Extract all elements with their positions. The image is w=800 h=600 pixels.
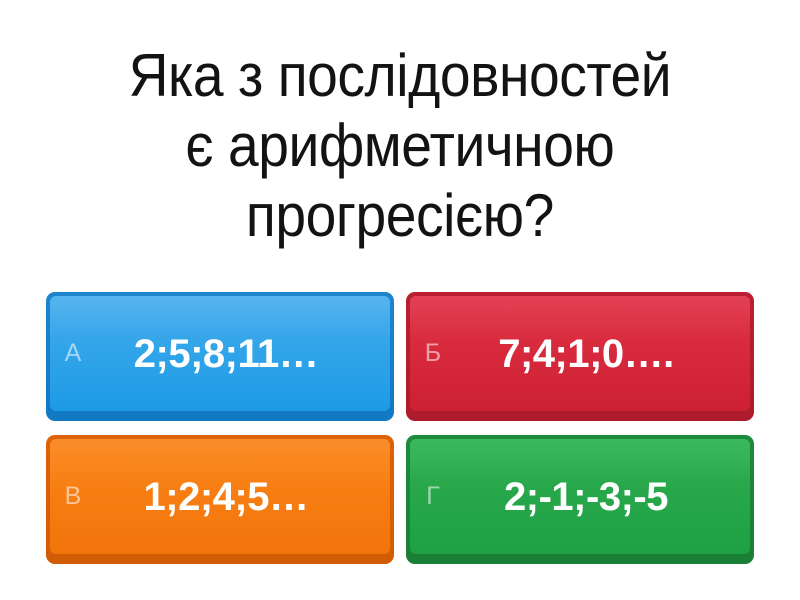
answer-option-g-letter: Г: [410, 484, 456, 509]
answer-option-g-face: Г 2;-1;-3;-5: [410, 439, 750, 554]
answer-option-v[interactable]: В 1;2;4;5…: [46, 435, 394, 564]
quiz-slide: Яка з послідовностей є арифметичною прог…: [0, 0, 800, 600]
answer-option-a-text: 2;5;8;11…: [96, 334, 390, 374]
answer-option-b-text: 7;4;1;0….: [456, 334, 750, 374]
answer-option-a-letter: А: [50, 341, 96, 366]
answer-option-a[interactable]: А 2;5;8;11…: [46, 292, 394, 421]
question-area: Яка з послідовностей є арифметичною прог…: [0, 0, 800, 282]
answer-option-v-text: 1;2;4;5…: [96, 477, 390, 517]
answer-option-v-face: В 1;2;4;5…: [50, 439, 390, 554]
answer-option-b-letter: Б: [410, 341, 456, 366]
question-text: Яка з послідовностей є арифметичною прог…: [129, 41, 672, 252]
answer-option-g[interactable]: Г 2;-1;-3;-5: [406, 435, 754, 564]
answer-options-grid: А 2;5;8;11… Б 7;4;1;0…. В 1;2;4;5… Г 2;-…: [46, 292, 754, 564]
answer-option-b-face: Б 7;4;1;0….: [410, 296, 750, 411]
answer-option-a-face: А 2;5;8;11…: [50, 296, 390, 411]
answer-option-b[interactable]: Б 7;4;1;0….: [406, 292, 754, 421]
answer-option-v-letter: В: [50, 484, 96, 509]
answer-option-g-text: 2;-1;-3;-5: [456, 477, 750, 517]
